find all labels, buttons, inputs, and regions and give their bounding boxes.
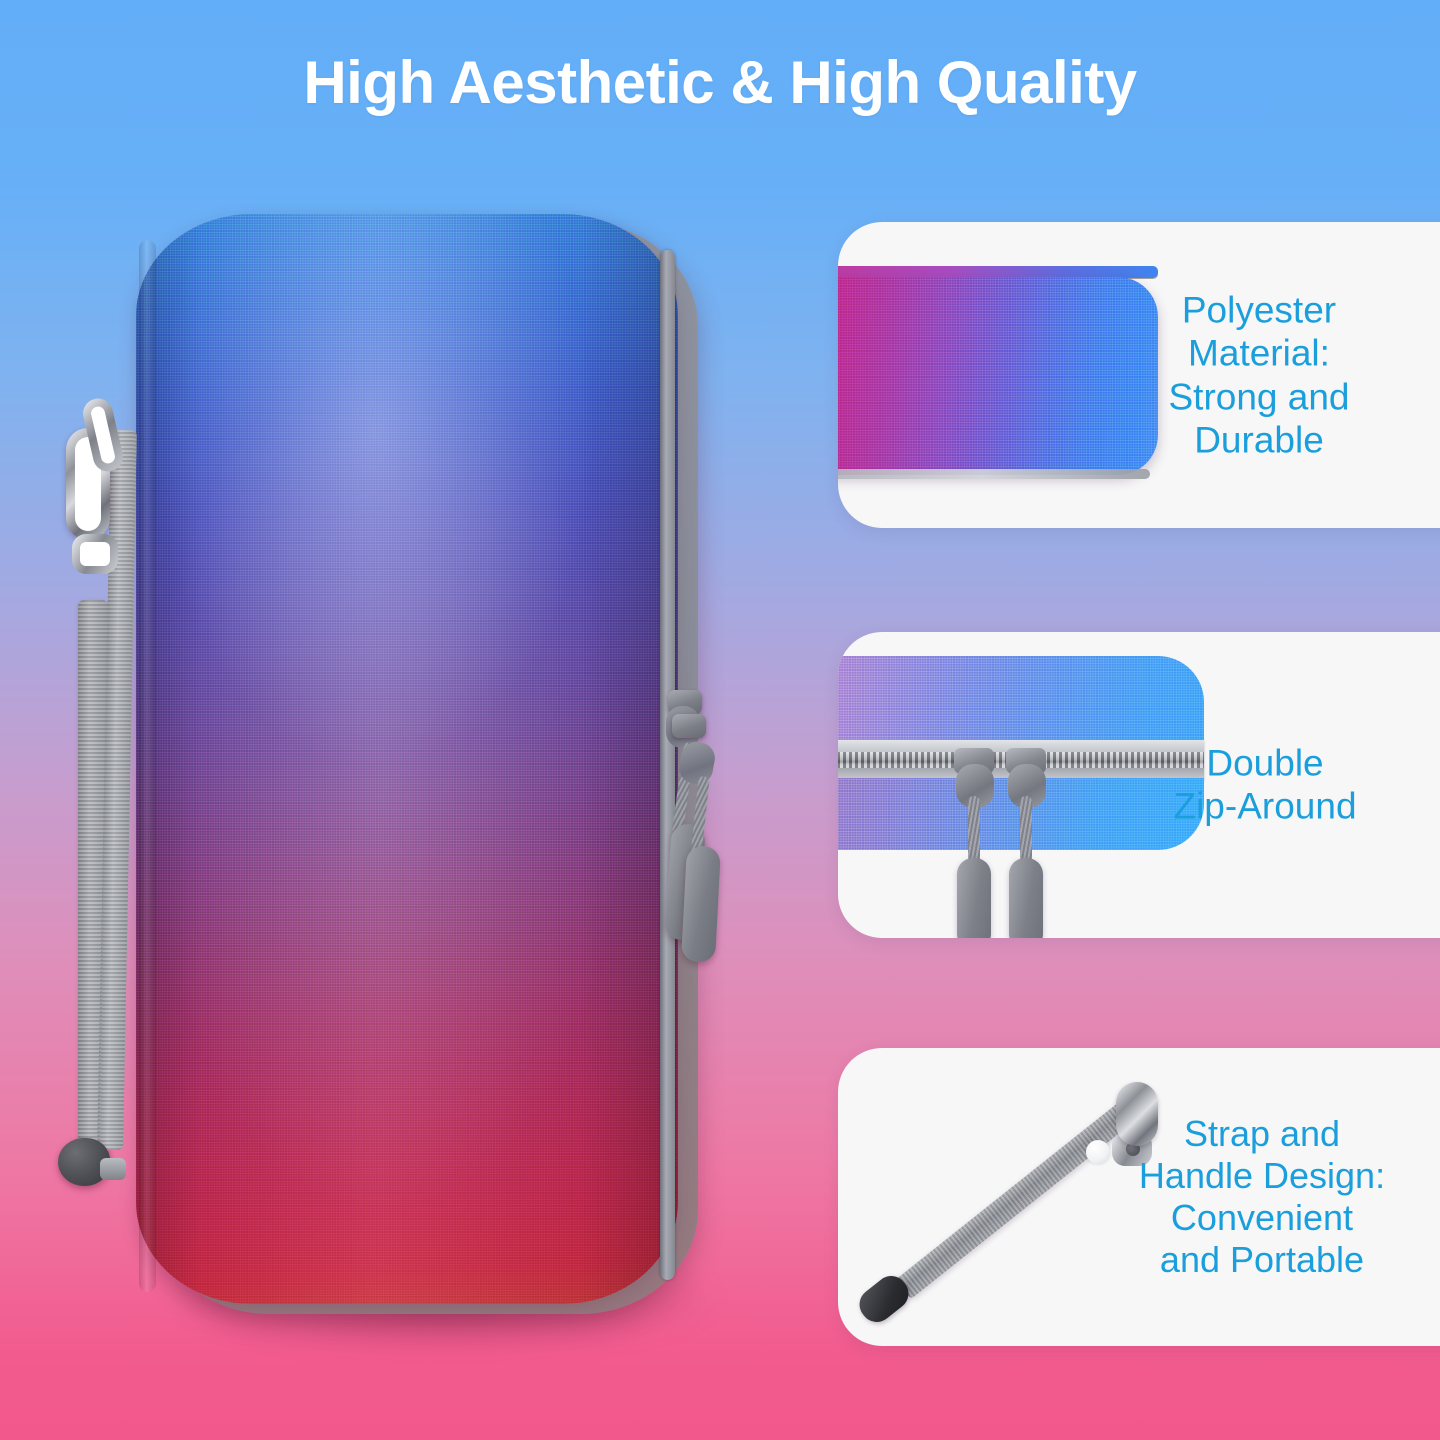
zipper-pull-tab-right: [1009, 858, 1043, 938]
case-base-edge: [838, 469, 1150, 479]
case-top-shell: [838, 656, 1204, 742]
case-highlight-sheen: [136, 214, 678, 1304]
zipper-pull-tab-lower: [681, 845, 721, 963]
feature-card-polyester: Polyester Material: Strong and Durable: [838, 222, 1440, 528]
feature-label-strap: Strap and Handle Design: Convenient and …: [1078, 1113, 1440, 1281]
feature-label-zipper: Double Zip-Around: [1100, 742, 1430, 829]
cord-lock-clip: [100, 1158, 126, 1180]
hero-product-image: [0, 0, 840, 1440]
page-title: High Aesthetic & High Quality: [0, 48, 1440, 117]
case-front-fabric: [136, 214, 678, 1304]
case-left-seam: [139, 240, 156, 1292]
feature-label-polyester: Polyester Material: Strong and Durable: [1094, 288, 1424, 461]
feature-card-strap: Strap and Handle Design: Convenient and …: [838, 1048, 1440, 1346]
zipper-slider-lower: [672, 714, 706, 738]
d-ring-icon: [72, 534, 118, 574]
weave-texture: [838, 656, 1204, 742]
case-zipper-track: [660, 250, 675, 1280]
zipper-pull-tab-left: [957, 858, 991, 938]
feature-card-zipper: Double Zip-Around: [838, 632, 1440, 938]
